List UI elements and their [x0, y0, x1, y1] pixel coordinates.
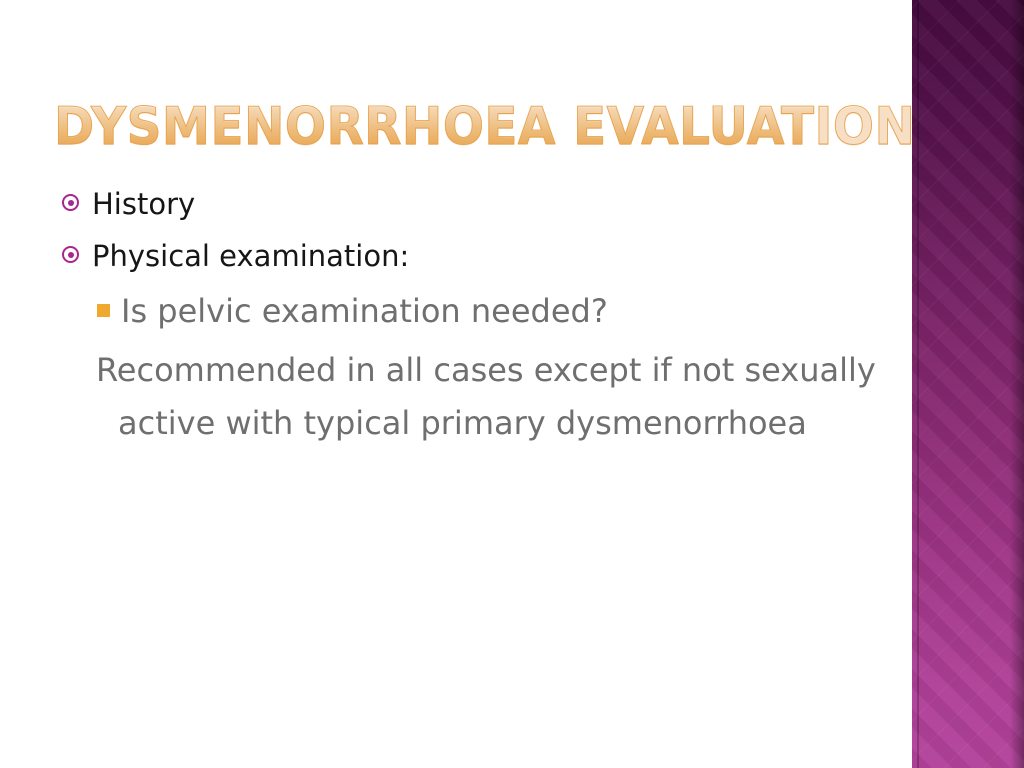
- band-seam-line: [917, 0, 919, 768]
- slide-body: History Physical examination: Is pelvic …: [0, 186, 880, 450]
- sub-bullet-label: Is pelvic examination needed?: [121, 292, 608, 330]
- square-bullet-icon: [97, 304, 110, 317]
- sub-bullet-item-pelvic-examination: Is pelvic examination needed?: [0, 290, 880, 334]
- slide-canvas: Dysmenorrhoea evaluation History Physica…: [0, 0, 1024, 768]
- side-decoration-band: [912, 0, 1024, 768]
- bullet-label: History: [92, 187, 195, 221]
- slide-title: Dysmenorrhoea evaluation: [54, 98, 817, 156]
- circled-dot-bullet-icon: [62, 246, 79, 263]
- diamond-lattice-texture: [912, 0, 1024, 768]
- bullet-label: Physical examination:: [92, 239, 409, 273]
- bullet-item-history: History: [0, 186, 880, 226]
- bullet-item-physical-examination: Physical examination:: [0, 238, 880, 278]
- body-paragraph: Recommended in all cases except if not s…: [0, 344, 878, 450]
- band-edge-shadow: [1010, 0, 1024, 768]
- circled-dot-bullet-icon: [62, 194, 79, 211]
